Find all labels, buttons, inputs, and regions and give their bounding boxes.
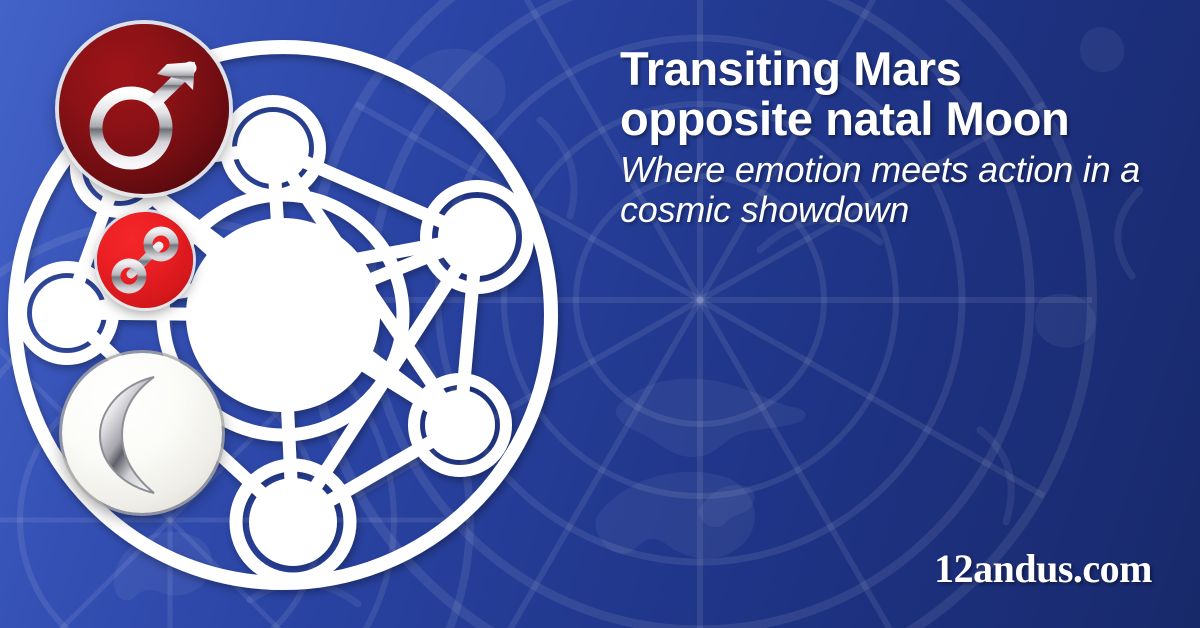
opposition-aspect-badge [97, 212, 193, 308]
moon-crescent-icon [100, 377, 154, 493]
title-line-2: opposite natal Moon [620, 92, 1069, 145]
promo-banner: Transiting Mars opposite natal Moon Wher… [0, 0, 1200, 628]
headline-block: Transiting Mars opposite natal Moon Wher… [620, 44, 1165, 230]
page-subtitle: Where emotion meets action in a cosmic s… [620, 150, 1165, 231]
mars-glyph-icon [96, 68, 190, 163]
moon-planet-badge [62, 353, 222, 513]
title-line-1: Transiting Mars [620, 42, 961, 95]
mars-planet-badge [59, 24, 229, 194]
opposition-aspect-icon [116, 231, 174, 289]
page-title: Transiting Mars opposite natal Moon [620, 44, 1165, 144]
site-brand: 12andus.com [934, 545, 1152, 592]
